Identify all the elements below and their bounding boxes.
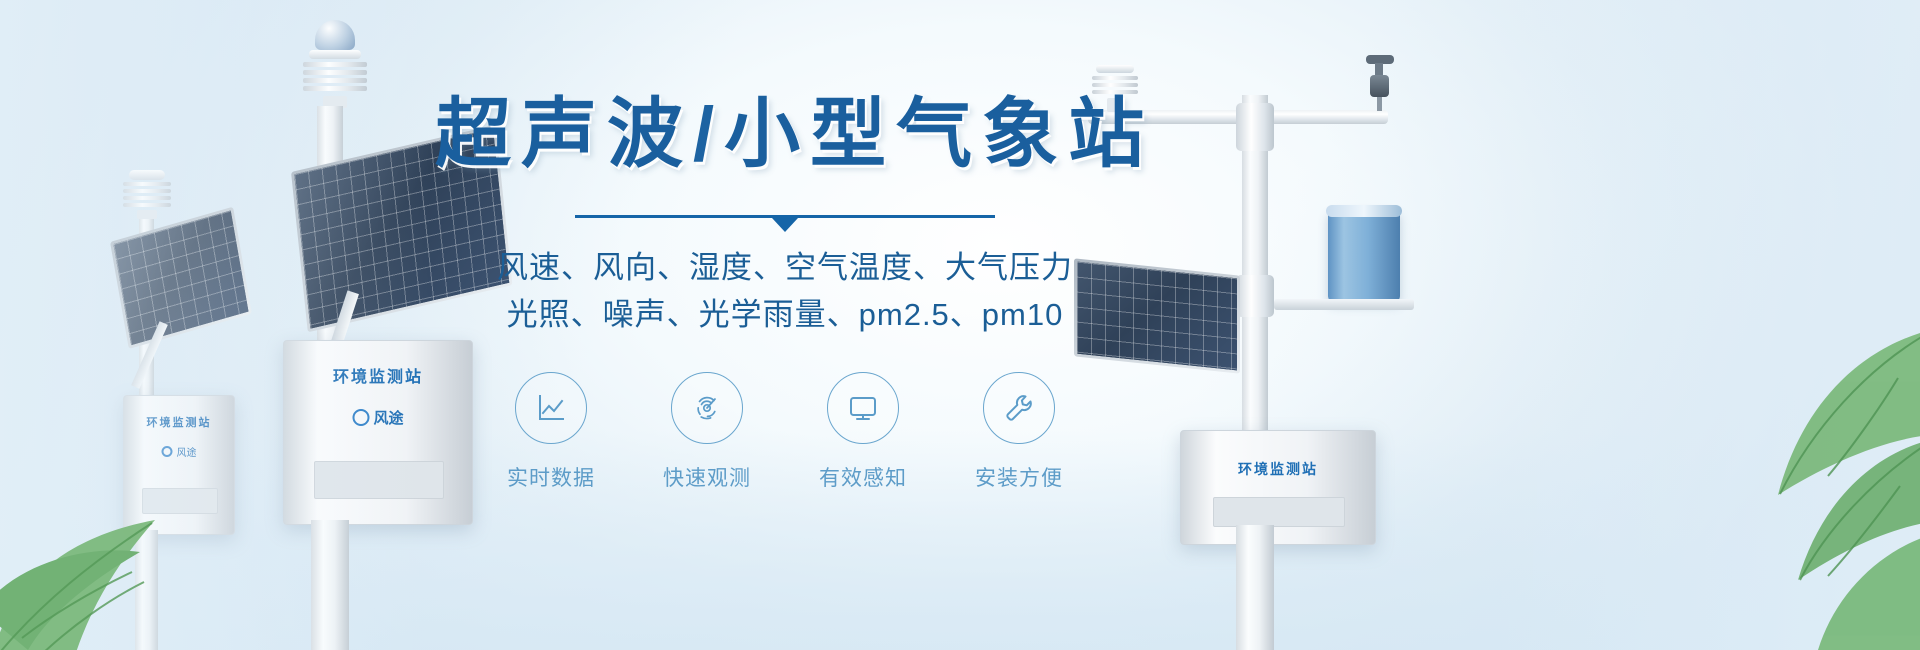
cabinet-label-right: 环境监测站: [1238, 459, 1318, 479]
radar-sensing-icon: [689, 390, 725, 426]
feature-icon-circle: [983, 372, 1055, 444]
feature-item-realtime-data[interactable]: 实时数据: [496, 372, 606, 492]
feature-item-easy-install[interactable]: 安装方便: [964, 372, 1074, 492]
feature-icon-circle: [671, 372, 743, 444]
mast-base-right: [1236, 525, 1274, 650]
mast-collar-upper: [1236, 103, 1274, 151]
feature-icon-circle: [515, 372, 587, 444]
title-separator: /: [693, 92, 724, 177]
rain-dome-icon: [315, 20, 355, 50]
rain-gauge-icon: [1328, 210, 1400, 302]
cabinet-right: 环境监测站: [1180, 430, 1376, 545]
cabinet-vent-center: [314, 461, 444, 499]
mast-base-center: [311, 520, 349, 650]
monitor-screen-icon: [845, 390, 881, 426]
feature-label: 快速观测: [652, 462, 762, 492]
wrench-icon: [1001, 390, 1037, 426]
feature-label: 有效感知: [808, 462, 918, 492]
sensor-head-center: [303, 20, 367, 106]
subtitle-block: 风速、风向、湿度、空气温度、大气压力 光照、噪声、光学雨量、pm2.5、pm10: [435, 244, 1135, 338]
leaf-bottom-left: [0, 320, 240, 650]
feature-list: 实时数据 快: [435, 372, 1135, 492]
feature-label: 实时数据: [496, 462, 606, 492]
brand-logo-icon: [352, 409, 369, 426]
title-divider: [575, 215, 995, 218]
product-banner: 环境监测站 风途 环境监测站: [0, 0, 1920, 650]
feature-item-effective-sensing[interactable]: 有效感知: [808, 372, 918, 492]
title-rest: 小型气象站: [724, 92, 1154, 177]
cabinet-label-center: 环境监测站: [333, 363, 423, 387]
page-title: 超声波/小型气象站: [435, 95, 1135, 175]
subtitle-line-1: 风速、风向、湿度、空气温度、大气压力: [435, 244, 1135, 291]
mast-collar-lower: [1236, 275, 1274, 317]
anemometer-icon: [1360, 55, 1400, 113]
cabinet-brand-center: 风途: [352, 407, 403, 428]
feature-label: 安装方便: [964, 462, 1074, 492]
cabinet-brand-text-center: 风途: [373, 407, 403, 428]
banner-content: 超声波/小型气象站 风速、风向、湿度、空气温度、大气压力 光照、噪声、光学雨量、…: [435, 95, 1135, 492]
subtitle-line-2: 光照、噪声、光学雨量、pm2.5、pm10: [435, 291, 1135, 338]
leaf-bottom-right: [1630, 290, 1920, 650]
gauge-shelf: [1274, 299, 1414, 310]
line-chart-icon: [533, 390, 569, 426]
cabinet-vent-right: [1213, 497, 1345, 527]
sensor-head-left: [123, 170, 171, 218]
title-main: 超声波: [435, 92, 693, 177]
feature-item-fast-observation[interactable]: 快速观测: [652, 372, 762, 492]
rain-gauge-rim: [1326, 205, 1402, 217]
feature-icon-circle: [827, 372, 899, 444]
